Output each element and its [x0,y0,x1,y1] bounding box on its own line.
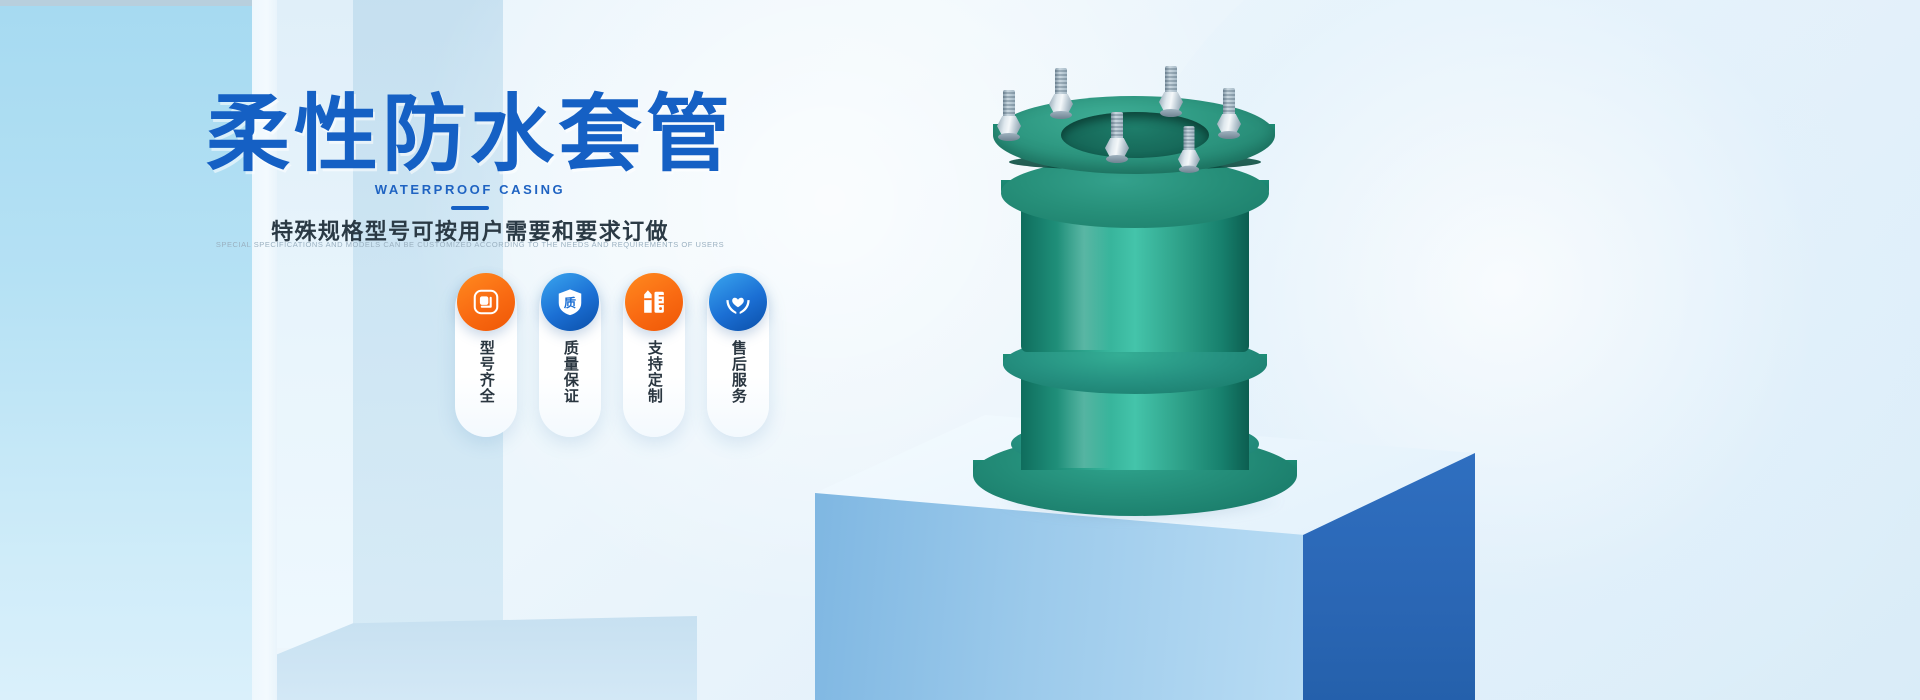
product-bolt [1178,126,1200,174]
product-bolt [1159,66,1183,118]
banner-headline: 柔性防水套管 [0,92,940,176]
bolt-shank [1111,112,1123,142]
hands-heart-icon [709,273,767,331]
model-catalog-icon [457,273,515,331]
bolt-shank [1055,68,1067,98]
feature-badge-label: 型号齐全 [477,340,495,404]
feature-badge-after-sales-service[interactable]: 售后服务 [707,277,769,437]
feature-badge-label: 售后服务 [729,340,747,404]
feature-badge-custom-support[interactable]: 支持定制 [623,277,685,437]
banner-subtitle-chinese-english: SPECIAL SPECIFICATIONS AND MODELS CAN BE… [0,240,940,249]
feature-badge-model-range[interactable]: 型号齐全 [455,277,517,437]
feature-badge-list: 型号齐全 质 质量保证 [455,277,769,437]
product-image-waterproof-casing [965,62,1305,492]
banner-subtitle-english: WATERPROOF CASING [0,182,940,197]
product-bolt [1217,88,1241,140]
feature-badge-label: 质量保证 [561,340,579,404]
bolt-shank [1165,66,1177,96]
product-bolt [997,90,1021,142]
bolt-shank [1003,90,1015,120]
svg-text:质: 质 [564,295,576,310]
quality-shield-icon: 质 [541,273,599,331]
banner-divider [451,206,489,210]
bolt-shank [1183,126,1194,154]
bolt-shank [1223,88,1235,118]
product-bolt [1105,112,1129,164]
bolt-washer [1050,111,1072,119]
pencil-ruler-icon [625,273,683,331]
feature-badge-label: 支持定制 [645,340,663,404]
bolt-washer [1179,166,1199,173]
bolt-washer [1160,109,1182,117]
promo-banner: 柔性防水套管 WATERPROOF CASING 特殊规格型号可按用户需要和要求… [0,0,1920,700]
bolt-washer [998,133,1020,141]
feature-badge-quality-guarantee[interactable]: 质 质量保证 [539,277,601,437]
bolt-washer [1106,155,1128,163]
product-bolt [1049,68,1073,120]
bolt-washer [1218,131,1240,139]
